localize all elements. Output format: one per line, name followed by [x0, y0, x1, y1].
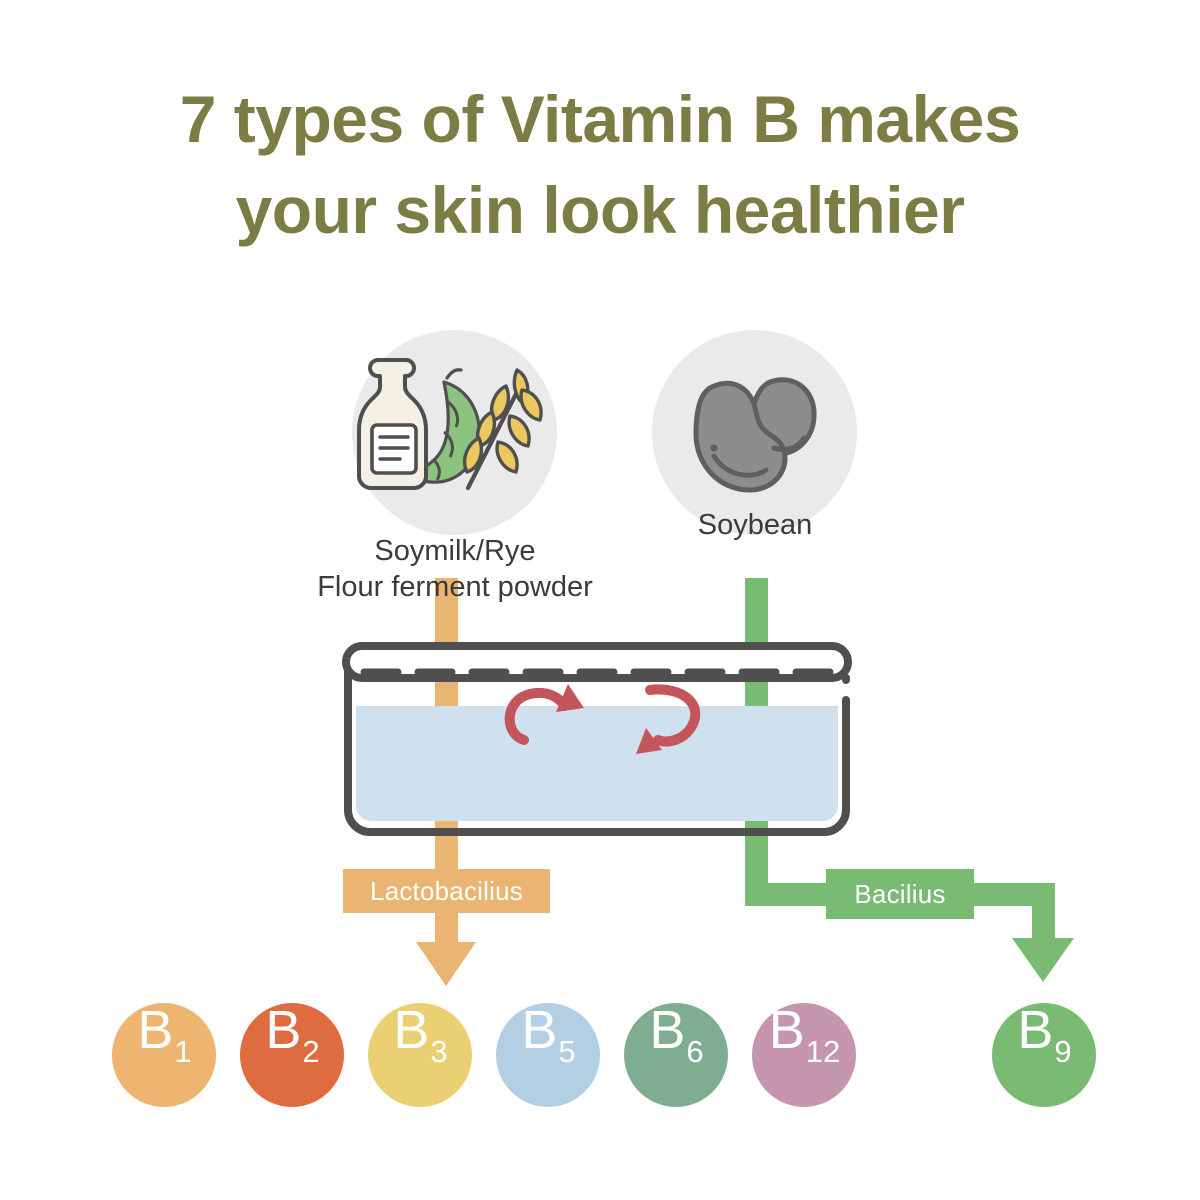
milk-bottle-icon [359, 360, 426, 488]
vitamin-subscript: 9 [1054, 1036, 1071, 1067]
page-title: 7 types of Vitamin B makes your skin loo… [0, 74, 1200, 256]
vitamin-b9[interactable]: B 9 [992, 1003, 1096, 1107]
vitamin-b1[interactable]: B 1 [112, 1003, 216, 1107]
fermentation-tank [336, 638, 858, 838]
source-soybean[interactable]: Soybean [652, 330, 857, 535]
vitamin-letter: B [521, 1003, 557, 1057]
lactobacilius-arrowhead-icon [416, 942, 476, 986]
vitamin-subscript: 1 [174, 1036, 191, 1067]
soymilk-rye-icon-group [352, 330, 557, 535]
vitamin-b2[interactable]: B 2 [240, 1003, 344, 1107]
vitamin-b5[interactable]: B 5 [496, 1003, 600, 1107]
vitamin-letter: B [769, 1003, 805, 1057]
title-line-1: 7 types of Vitamin B makes [180, 82, 1020, 156]
vitamin-subscript: 3 [430, 1036, 447, 1067]
source-label-soybean: Soybean [610, 507, 900, 543]
vitamin-b12[interactable]: B 12 [752, 1003, 856, 1107]
vitamin-subscript: 12 [806, 1036, 840, 1067]
tank-vessel-icon [336, 638, 858, 838]
source-soymilk-rye[interactable]: Soymilk/Rye Flour ferment powder [352, 330, 557, 535]
tag-bacilius[interactable]: Bacilius [826, 869, 974, 919]
vitamin-letter: B [137, 1003, 173, 1057]
tag-bacilius-label: Bacilius [854, 879, 945, 910]
bacilius-arrowhead-icon [1012, 938, 1074, 982]
vitamin-b3[interactable]: B 3 [368, 1003, 472, 1107]
vitamin-letter: B [265, 1003, 301, 1057]
vitamin-subscript: 5 [558, 1036, 575, 1067]
source-label-soymilk-rye: Soymilk/Rye Flour ferment powder [280, 533, 630, 606]
title-line-2: your skin look healthier [0, 165, 1200, 256]
vitamin-subscript: 6 [686, 1036, 703, 1067]
infographic-canvas: 7 types of Vitamin B makes your skin loo… [0, 0, 1200, 1200]
bacilius-elbow-vertical [1032, 883, 1055, 941]
tag-lactobacilius-label: Lactobacilius [370, 876, 523, 907]
vitamin-letter: B [393, 1003, 429, 1057]
vitamin-letter: B [649, 1003, 685, 1057]
vitamin-letter: B [1017, 1003, 1053, 1057]
soybean-icon [696, 380, 814, 490]
soybean-icon-group [652, 330, 857, 535]
tag-lactobacilius[interactable]: Lactobacilius [343, 869, 550, 913]
vitamin-subscript: 2 [302, 1036, 319, 1067]
vitamin-b6[interactable]: B 6 [624, 1003, 728, 1107]
